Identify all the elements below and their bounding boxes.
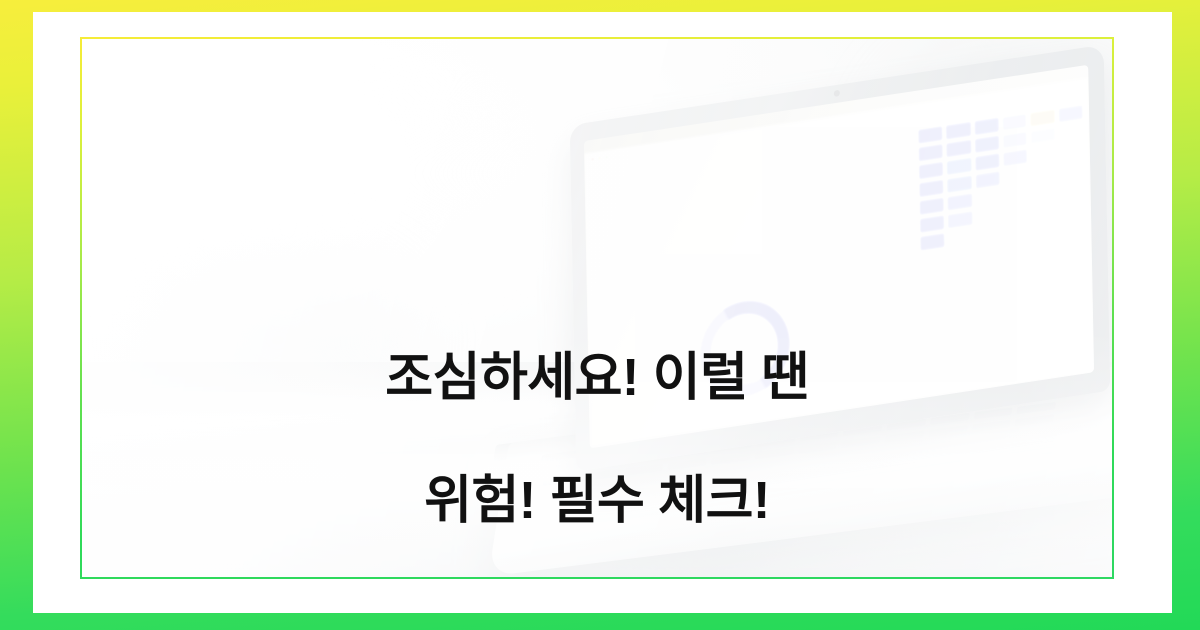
cohort-cell-empty <box>1031 162 1056 180</box>
sidebar-icon <box>594 190 602 193</box>
cohort-cell <box>920 215 945 233</box>
cohort-cell-empty <box>1004 202 1029 220</box>
cohort-cell-empty <box>1058 122 1083 140</box>
cohort-cell-empty <box>975 189 1000 207</box>
cohort-cell <box>919 197 944 215</box>
cohort-cell <box>974 135 999 153</box>
background-photo: 조심하세요! 이럴 땐 위험! 필수 체크! <box>82 39 1112 577</box>
cohort-cell <box>975 153 1000 171</box>
cohort-row-label <box>876 170 916 181</box>
cohort-column-header <box>973 108 998 117</box>
cohort-cell <box>946 121 971 139</box>
sidebar-icon <box>594 211 602 214</box>
cohort-cell <box>1058 105 1083 123</box>
cohort-cell-empty <box>1060 211 1085 229</box>
cohort-cell <box>918 144 943 162</box>
webcam-icon <box>834 90 840 97</box>
sidebar-icon <box>595 232 603 235</box>
cohort-column-header <box>945 112 970 121</box>
cohort-cell <box>919 179 944 197</box>
cohort-column-header <box>917 116 942 125</box>
cohort-cell <box>1030 127 1055 145</box>
cohort-cell <box>975 171 1000 189</box>
cohort-row-label <box>877 224 917 235</box>
cohort-table <box>875 95 1085 261</box>
cohort-row-label <box>875 135 915 146</box>
line-chart <box>618 150 804 305</box>
cohort-cell <box>946 139 971 157</box>
cohort-cell <box>1002 113 1027 131</box>
cohort-cell-empty <box>1060 194 1085 212</box>
metric-value <box>765 161 799 173</box>
thumbnail-card: 조심하세요! 이럴 땐 위험! 필수 체크! <box>0 0 1200 630</box>
close-dot-icon <box>591 157 594 161</box>
cohort-cell <box>947 157 972 175</box>
headline-line-2: 위험! 필수 체크! <box>82 471 1112 532</box>
inner-gradient-rule: 조심하세요! 이럴 땐 위험! 필수 체크! <box>80 37 1114 579</box>
cohort-cell-empty <box>1003 184 1028 202</box>
minimize-dot-icon <box>598 156 601 160</box>
cohort-cell <box>947 193 972 211</box>
cohort-cell-empty <box>976 206 1001 224</box>
cohort-cell <box>920 233 945 251</box>
cohort-cell <box>918 126 943 144</box>
cohort-row-label <box>876 152 916 163</box>
cohort-cell-empty <box>1031 180 1056 198</box>
cohort-column-header <box>1029 99 1054 108</box>
cohort-row-label <box>877 206 917 217</box>
cohort-cell-empty <box>1059 176 1084 194</box>
cohort-cell <box>1003 149 1028 167</box>
cohort-row-label <box>876 188 916 199</box>
cohort-cell-empty <box>1059 158 1084 176</box>
cohort-cell-empty <box>1031 144 1056 162</box>
cohort-cell-empty <box>976 224 1001 242</box>
metric-value <box>770 224 800 236</box>
cohort-cell <box>948 211 973 229</box>
cohort-cell-empty <box>1003 166 1028 184</box>
headline-line-1: 조심하세요! 이럴 땐 <box>82 348 1112 409</box>
cohort-row-label <box>877 242 917 253</box>
cohort-cell-empty <box>1032 198 1057 216</box>
sidebar-icon <box>595 274 603 277</box>
cohort-cell <box>947 175 972 193</box>
cohort-cell-empty <box>948 228 973 246</box>
cohort-cell <box>919 161 944 179</box>
cohort-cell <box>974 117 999 135</box>
sidebar-icon <box>595 253 603 256</box>
cohort-cell-empty <box>1059 140 1084 158</box>
metric-value <box>771 193 799 205</box>
cohort-cell <box>1002 131 1027 149</box>
cohort-column-header <box>1001 104 1026 113</box>
cohort-footer-label <box>965 242 1068 263</box>
cohort-cell-empty <box>1032 216 1057 234</box>
cohort-cell <box>1030 109 1055 127</box>
cohort-cell-empty <box>1004 220 1029 238</box>
cohort-column-header <box>1058 95 1083 104</box>
page-title: 조심하세요! 이럴 땐 위험! 필수 체크! <box>82 287 1112 577</box>
maximize-dot-icon <box>605 155 608 159</box>
